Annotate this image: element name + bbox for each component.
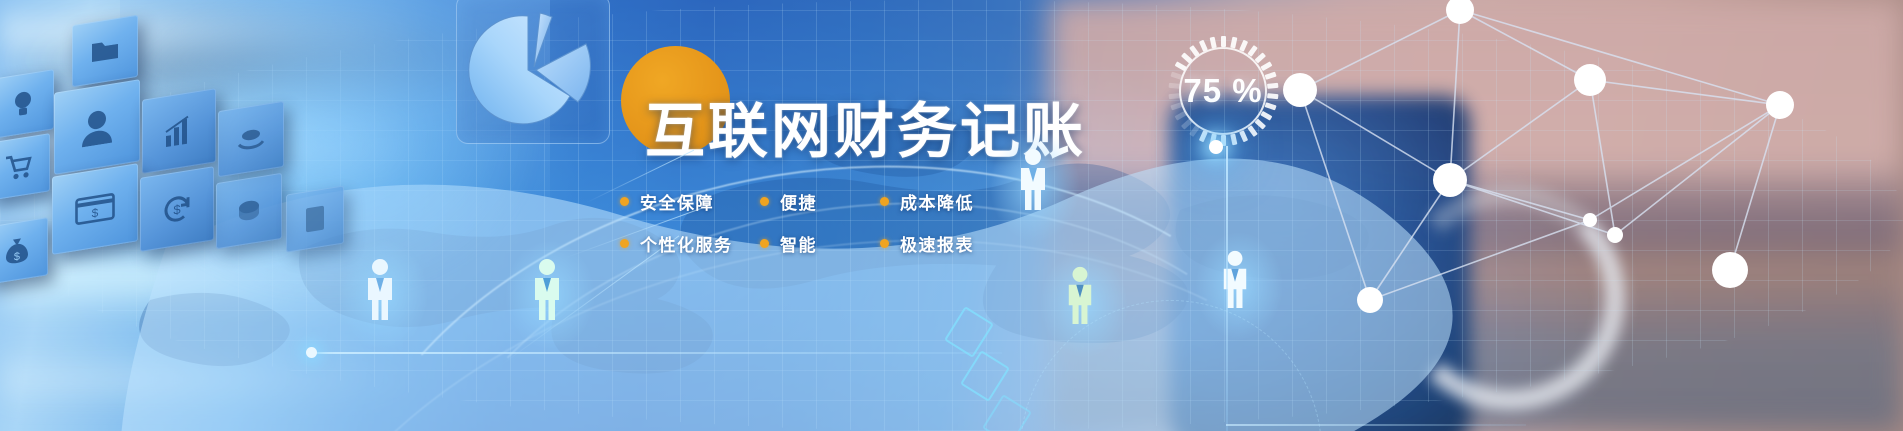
- money-bag-icon: $: [5, 235, 29, 267]
- bullet-dot-icon: [760, 197, 769, 206]
- shopping-cart-icon: [5, 152, 33, 182]
- gauge-glow-dot: [1209, 140, 1223, 154]
- feature-label: 成本降低: [900, 189, 974, 214]
- cube-tile: [0, 133, 50, 201]
- network-graph: [1260, 0, 1900, 300]
- network-node: [1712, 252, 1748, 288]
- feature-label: 安全保障: [640, 189, 714, 214]
- person-icon: [1219, 250, 1251, 308]
- feature-item[interactable]: 个性化服务: [620, 231, 760, 256]
- feature-item[interactable]: 便捷: [760, 189, 880, 214]
- network-node: [1607, 227, 1623, 243]
- feature-item[interactable]: 智能: [760, 231, 880, 256]
- network-node: [1283, 73, 1317, 107]
- network-node: [1583, 213, 1597, 227]
- network-edges: [1300, 10, 1780, 300]
- folder-icon: [90, 36, 120, 67]
- person-icon: [1016, 148, 1050, 210]
- person-icon: [1064, 266, 1096, 324]
- glow-line-horizontal: [312, 352, 1002, 354]
- feature-label: 极速报表: [900, 231, 974, 256]
- network-node: [1766, 91, 1794, 119]
- network-nodes: [1283, 0, 1794, 313]
- svg-text:$: $: [14, 251, 20, 264]
- promo-banner: $ $ $: [0, 0, 1903, 431]
- network-node: [1574, 64, 1606, 96]
- network-node: [1357, 287, 1383, 313]
- feature-item[interactable]: 成本降低: [880, 189, 974, 214]
- network-node: [1446, 0, 1474, 24]
- user-icon: [80, 106, 114, 147]
- person-icon: [363, 258, 397, 320]
- bullet-dot-icon: [880, 197, 889, 206]
- feature-item[interactable]: 极速报表: [880, 231, 974, 256]
- feature-item[interactable]: 安全保障: [620, 189, 760, 214]
- network-node: [1433, 163, 1467, 197]
- person-icon: [530, 258, 564, 320]
- bullet-dot-icon: [880, 239, 889, 248]
- feature-row: 安全保障 便捷 成本降低: [620, 180, 1040, 222]
- feature-label: 便捷: [780, 189, 817, 214]
- bullet-dot-icon: [620, 197, 629, 206]
- bullet-dot-icon: [760, 239, 769, 248]
- feature-label: 智能: [780, 231, 817, 256]
- pie-chart-svg: [466, 4, 598, 136]
- feature-label: 个性化服务: [640, 231, 733, 256]
- feature-list: 安全保障 便捷 成本降低 个性化服务 智能 极速报表: [620, 180, 1040, 264]
- feature-row: 个性化服务 智能 极速报表: [620, 222, 1040, 264]
- cube-tile: [0, 69, 54, 139]
- pie-chart: [466, 4, 598, 136]
- cube-tile: $: [0, 217, 48, 285]
- svg-text:$: $: [92, 205, 99, 220]
- bullet-dot-icon: [620, 239, 629, 248]
- credit-card-dollar-icon: $: [75, 192, 115, 226]
- lightbulb-icon: [12, 88, 34, 119]
- glow-line-dot: [306, 347, 317, 358]
